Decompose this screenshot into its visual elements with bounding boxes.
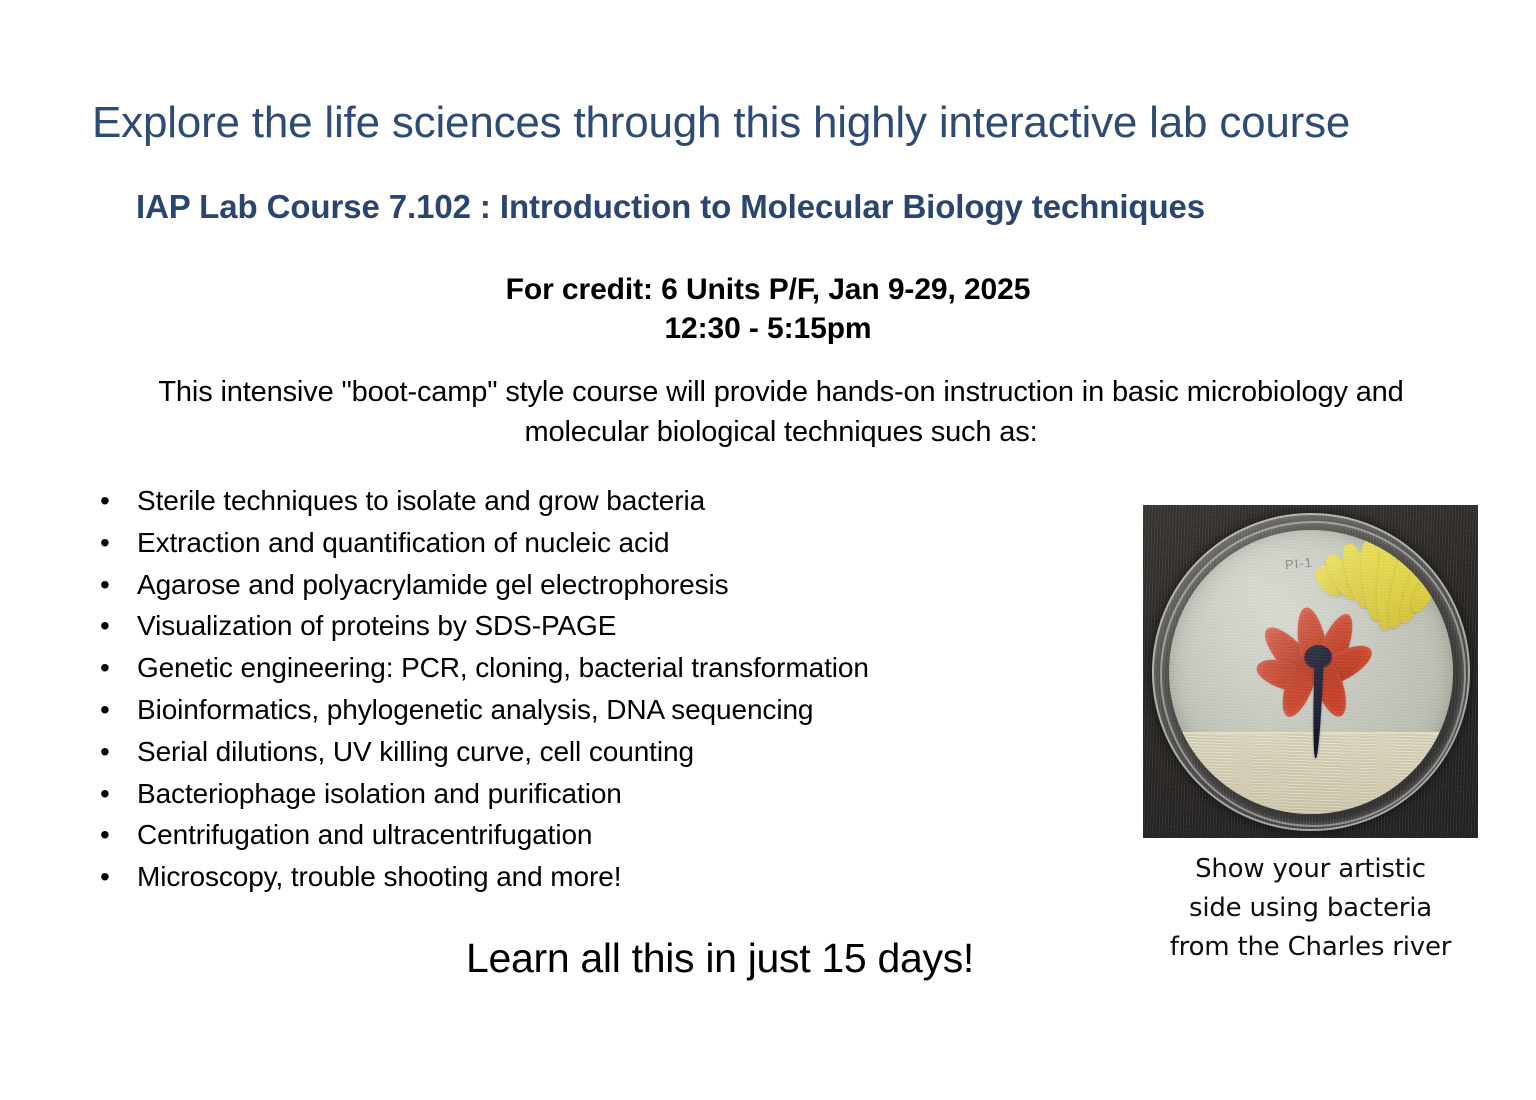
bacterial-lawn-streak <box>1169 732 1453 814</box>
photo-caption: Show your artistic side using bacteria f… <box>1143 850 1478 967</box>
list-item: •Centrifugation and ultracentrifugation <box>96 814 1116 856</box>
list-item: •Agarose and polyacrylamide gel electrop… <box>96 564 1116 606</box>
bullet-icon: • <box>100 814 110 856</box>
bullet-icon: • <box>100 773 110 815</box>
list-item-label: Agarose and polyacrylamide gel electroph… <box>137 569 729 600</box>
list-item: •Sterile techniques to isolate and grow … <box>96 480 1116 522</box>
list-item-label: Extraction and quantification of nucleic… <box>137 527 670 558</box>
credit-block: For credit: 6 Units P/F, Jan 9-29, 2025 … <box>0 271 1536 348</box>
list-item-label: Genetic engineering: PCR, cloning, bacte… <box>137 652 869 683</box>
list-item: •Visualization of proteins by SDS-PAGE <box>96 605 1116 647</box>
photo-caption-line-1: Show your artistic <box>1143 850 1478 889</box>
list-item-label: Serial dilutions, UV killing curve, cell… <box>137 736 694 767</box>
agar-surface: PI-1 <box>1169 530 1453 814</box>
list-item-label: Sterile techniques to isolate and grow b… <box>137 485 705 516</box>
list-item: •Extraction and quantification of nuclei… <box>96 522 1116 564</box>
list-item-label: Microscopy, trouble shooting and more! <box>137 861 621 892</box>
bullet-icon: • <box>100 605 110 647</box>
list-item: •Microscopy, trouble shooting and more! <box>96 856 1116 898</box>
photo-caption-line-2: side using bacteria <box>1143 889 1478 928</box>
list-item: •Genetic engineering: PCR, cloning, bact… <box>96 647 1116 689</box>
bullet-icon: • <box>100 564 110 606</box>
photo-caption-line-3: from the Charles river <box>1143 928 1478 967</box>
petri-dish-figure: PI-1 Show your artistic side using bacte… <box>1143 505 1478 967</box>
bullet-icon: • <box>100 480 110 522</box>
flyer-page: Explore the life sciences through this h… <box>0 0 1536 1100</box>
bullet-icon: • <box>100 856 110 898</box>
list-item: •Serial dilutions, UV killing curve, cel… <box>96 731 1116 773</box>
dish-lid-marking: PI-1 <box>1285 554 1314 572</box>
credit-units-dates: For credit: 6 Units P/F, Jan 9-29, 2025 <box>0 271 1536 309</box>
list-item: •Bioinformatics, phylogenetic analysis, … <box>96 689 1116 731</box>
bullet-icon: • <box>100 731 110 773</box>
petri-dish-photo: PI-1 <box>1143 505 1478 838</box>
list-item: •Bacteriophage isolation and purificatio… <box>96 773 1116 815</box>
topics-list: •Sterile techniques to isolate and grow … <box>96 480 1116 898</box>
list-item-label: Visualization of proteins by SDS-PAGE <box>137 610 616 641</box>
bullet-icon: • <box>100 647 110 689</box>
closing-tagline: Learn all this in just 15 days! <box>300 932 1140 984</box>
page-headline: Explore the life sciences through this h… <box>92 97 1492 149</box>
course-subhead: IAP Lab Course 7.102 : Introduction to M… <box>136 186 1496 228</box>
red-bacteria-flower <box>1266 610 1374 724</box>
bullet-icon: • <box>100 689 110 731</box>
bullet-icon: • <box>100 522 110 564</box>
list-item-label: Bacteriophage isolation and purification <box>137 778 622 809</box>
credit-time: 12:30 - 5:15pm <box>0 310 1536 348</box>
list-item-label: Centrifugation and ultracentrifugation <box>137 819 592 850</box>
intro-paragraph: This intensive "boot-camp" style course … <box>118 372 1444 452</box>
list-item-label: Bioinformatics, phylogenetic analysis, D… <box>137 694 813 725</box>
